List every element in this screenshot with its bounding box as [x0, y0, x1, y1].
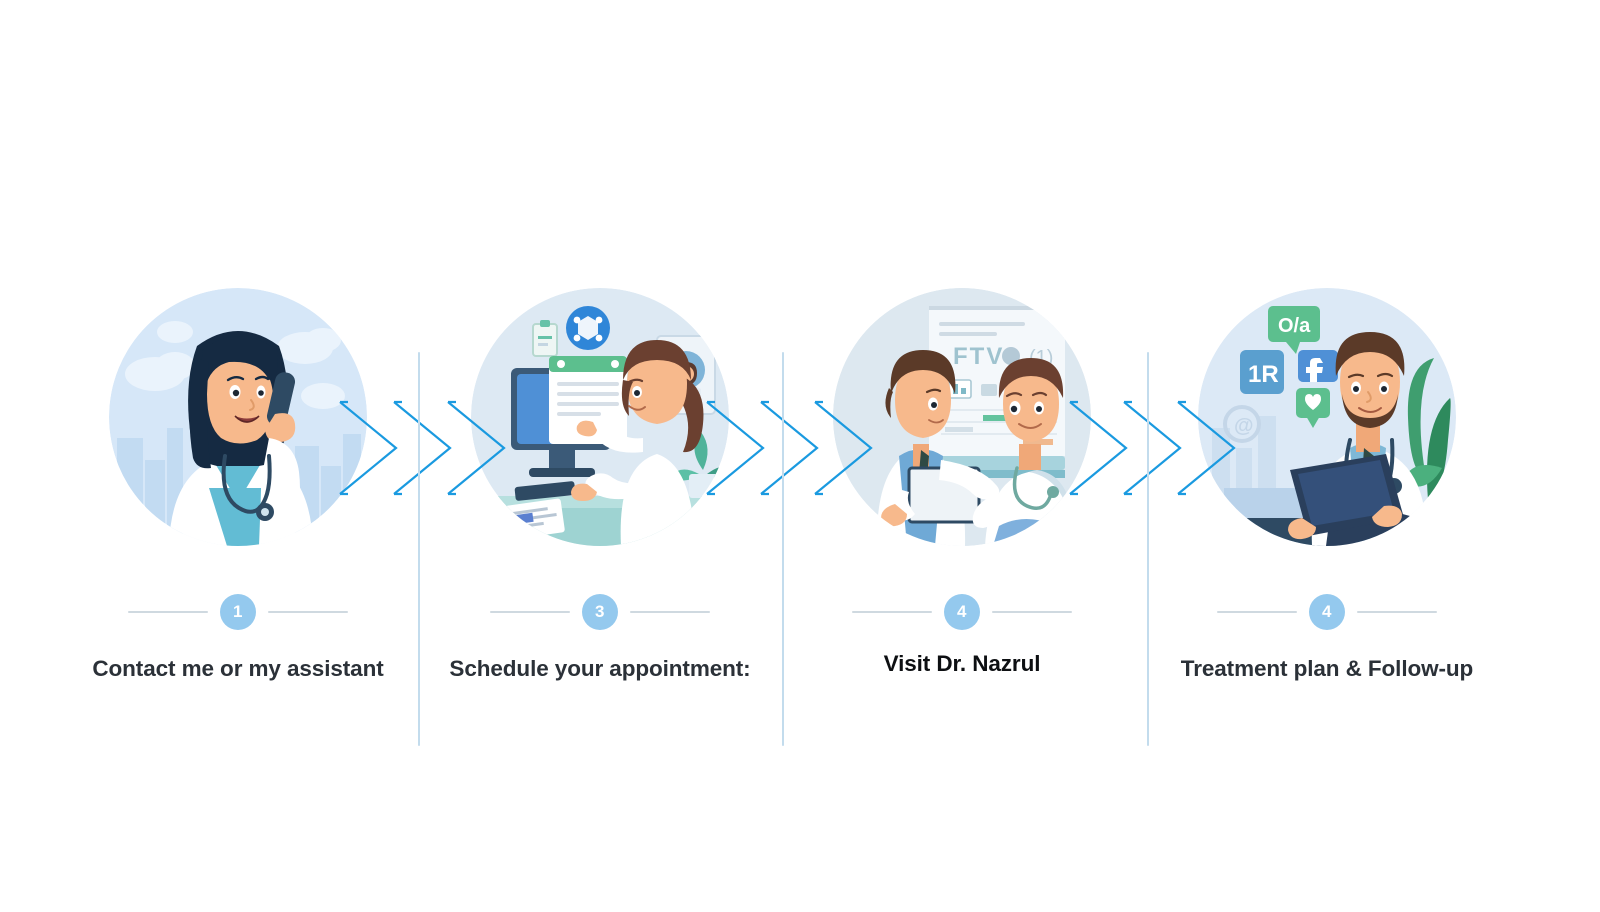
- step-number-badge: 3: [582, 594, 618, 630]
- step-caption: Schedule your appointment:: [449, 656, 750, 682]
- step-divider-3: [1147, 352, 1149, 746]
- step-badge-row-2: 3: [450, 594, 750, 630]
- badge-rule-right: [630, 611, 710, 613]
- step-divider-1: [418, 352, 420, 746]
- badge-rule-right: [1357, 611, 1437, 613]
- badge-rule-left: [1217, 611, 1297, 613]
- step-badge-row-3: 4: [812, 594, 1112, 630]
- step-divider-2: [782, 352, 784, 746]
- step-badge-row-4: 4: [1177, 594, 1477, 630]
- step-number-badge: 1: [220, 594, 256, 630]
- badge-rule-left: [490, 611, 570, 613]
- badge-rule-left: [128, 611, 208, 613]
- patient-journey-infographic: 1 Contact me or my assistant: [0, 0, 1600, 912]
- step-caption: Treatment plan & Follow-up: [1181, 656, 1473, 682]
- step-caption: Visit Dr. Nazrul: [884, 651, 1041, 677]
- step-number-badge: 4: [944, 594, 980, 630]
- step-number-badge: 4: [1309, 594, 1345, 630]
- step-badge-row-1: 1: [88, 594, 388, 630]
- doctor-on-phone-illustration: [109, 288, 367, 546]
- svg-text:O/a: O/a: [1278, 315, 1311, 337]
- chevron-separator-1: [338, 398, 524, 498]
- chevron-separator-2: [705, 398, 891, 498]
- svg-text:FTV: FTV: [953, 343, 1004, 370]
- step-caption: Contact me or my assistant: [92, 656, 383, 682]
- badge-rule-right: [992, 611, 1072, 613]
- badge-rule-right: [268, 611, 348, 613]
- chevron-separator-3: [1068, 398, 1254, 498]
- badge-rule-left: [852, 611, 932, 613]
- svg-text:1R: 1R: [1248, 361, 1279, 388]
